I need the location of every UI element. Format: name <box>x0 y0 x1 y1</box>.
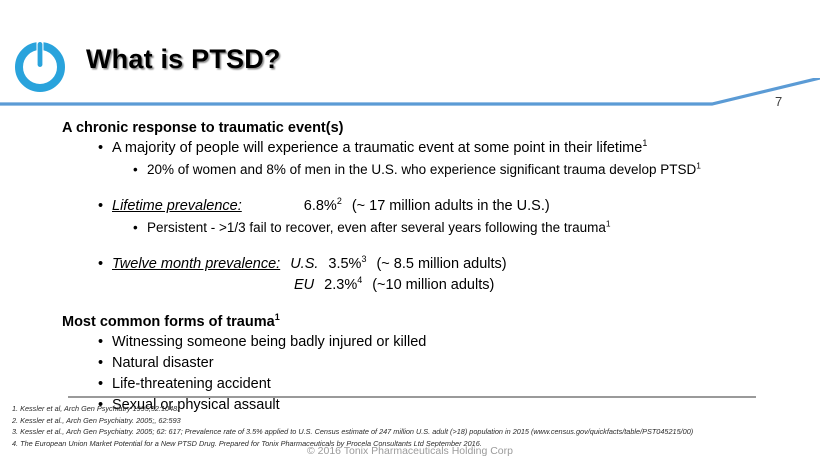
spacer <box>0 180 820 196</box>
bullet-majority-of-people-text: A majority of people will experience a t… <box>112 140 642 156</box>
footnote-2: 2. Kessler et al., Arch Gen Psychiatry. … <box>12 415 812 427</box>
trauma-form-1: Witnessing someone being badly injured o… <box>112 334 426 350</box>
footnote-list: 1. Kessler et al, Arch Gen Psychiatry 19… <box>12 403 812 449</box>
slide: What is PTSD? 7 A chronic response to tr… <box>0 0 820 461</box>
bullet-20-percent-women: •20% of women and 8% of men in the U.S. … <box>133 159 820 180</box>
bullet-glyph: • <box>133 217 147 238</box>
list-item: •Natural disaster <box>98 353 820 374</box>
bullet-glyph: • <box>98 374 112 395</box>
footnote-ref-4: 4 <box>357 275 362 285</box>
bullet-twelve-month-prevalence: •Twelve month prevalence:U.S.3.5%3(~ 8.5… <box>98 254 820 275</box>
footnote-ref-1: 1 <box>275 312 280 322</box>
bullet-glyph: • <box>98 138 112 159</box>
persistent-text: Persistent - >1/3 fail to recover, even … <box>147 220 606 235</box>
list-item: •Life-threatening accident <box>98 374 820 395</box>
twelve-month-eu-value: 2.3% <box>324 277 357 293</box>
row-twelve-month-eu: EU2.3%4(~10 million adults) <box>98 275 820 296</box>
bullet-glyph: • <box>98 332 112 353</box>
trauma-form-3: Life-threatening accident <box>112 376 271 392</box>
trauma-form-2: Natural disaster <box>112 355 214 371</box>
bullet-lifetime-prevalence: •Lifetime prevalence:6.8%2(~ 17 million … <box>98 196 820 217</box>
footnote-ref-3: 3 <box>361 254 366 264</box>
twelve-month-eu-region: EU <box>294 277 314 293</box>
bullet-majority-of-people: •A majority of people will experience a … <box>98 138 820 159</box>
bullet-glyph: • <box>98 254 112 275</box>
footer-divider <box>68 396 756 398</box>
slide-body: A chronic response to traumatic event(s)… <box>0 118 820 416</box>
spacer <box>0 296 820 312</box>
bullet-20-percent-women-text: 20% of women and 8% of men in the U.S. w… <box>147 162 696 177</box>
footnote-ref-2: 2 <box>337 196 342 206</box>
copyright-notice: © 2016 Tonix Pharmaceuticals Holding Cor… <box>0 445 820 457</box>
bullet-glyph: • <box>98 196 112 217</box>
section-heading-chronic-response: A chronic response to traumatic event(s) <box>62 118 820 138</box>
bullet-glyph: • <box>98 353 112 374</box>
footnote-1: 1. Kessler et al, Arch Gen Psychiatry 19… <box>12 403 812 415</box>
bullet-persistent-fail-to-recover: •Persistent - >1/3 fail to recover, even… <box>133 217 820 238</box>
footnote-ref-1: 1 <box>606 219 611 229</box>
twelve-month-prevalence-label: Twelve month prevalence: <box>112 256 280 272</box>
list-item: •Witnessing someone being badly injured … <box>98 332 820 353</box>
header-accent-line <box>0 78 820 108</box>
twelve-month-us-note: (~ 8.5 million adults) <box>376 256 506 272</box>
footnote-ref-1: 1 <box>642 138 647 148</box>
section-heading-most-common-forms: Most common forms of trauma1 <box>62 312 820 332</box>
footnote-ref-1: 1 <box>696 161 701 171</box>
slide-number: 7 <box>775 94 782 109</box>
bullet-glyph: • <box>133 159 147 180</box>
spacer <box>0 238 820 254</box>
lifetime-prevalence-note: (~ 17 million adults in the U.S.) <box>352 198 550 214</box>
twelve-month-us-region: U.S. <box>290 256 318 272</box>
page-title: What is PTSD? <box>86 44 281 75</box>
section-heading-most-common-forms-text: Most common forms of trauma <box>62 314 275 330</box>
lifetime-prevalence-label: Lifetime prevalence: <box>112 198 242 214</box>
twelve-month-eu-note: (~10 million adults) <box>372 277 494 293</box>
lifetime-prevalence-value: 6.8% <box>304 198 337 214</box>
twelve-month-us-value: 3.5% <box>328 256 361 272</box>
footnote-3: 3. Kessler et al., Arch Gen Psychiatry. … <box>12 426 812 438</box>
